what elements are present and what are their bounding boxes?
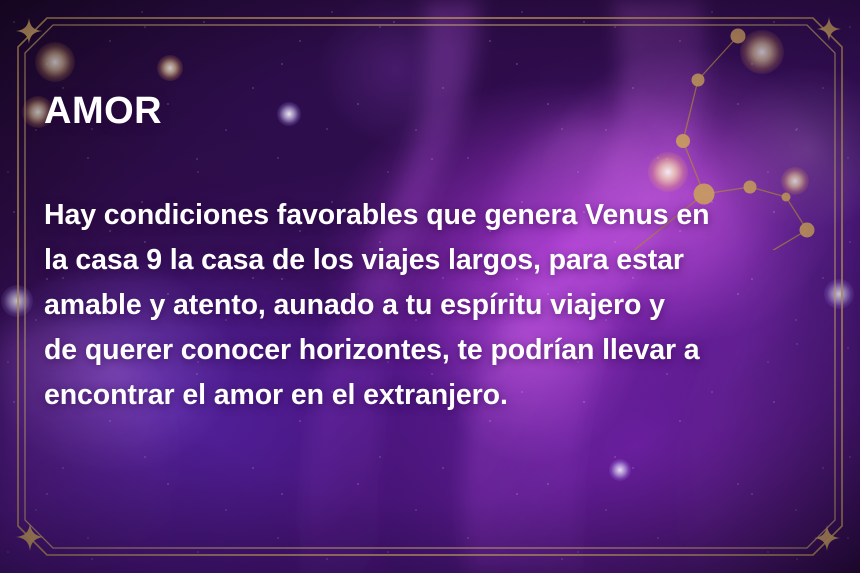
body-line: encontrar el amor en el extranjero. xyxy=(44,373,830,418)
horoscope-card: AMOR Hay condiciones favorables que gene… xyxy=(0,0,860,573)
text-content: AMOR Hay condiciones favorables que gene… xyxy=(44,92,830,418)
body-line: amable y atento, aunado a tu espíritu vi… xyxy=(44,283,830,328)
horoscope-body: Hay condiciones favorables que genera Ve… xyxy=(44,130,830,418)
page-title: AMOR xyxy=(44,92,830,130)
body-line: Hay condiciones favorables que genera Ve… xyxy=(44,193,830,238)
body-line: de querer conocer horizontes, te podrían… xyxy=(44,328,830,373)
body-line: la casa 9 la casa de los viajes largos, … xyxy=(44,238,830,283)
